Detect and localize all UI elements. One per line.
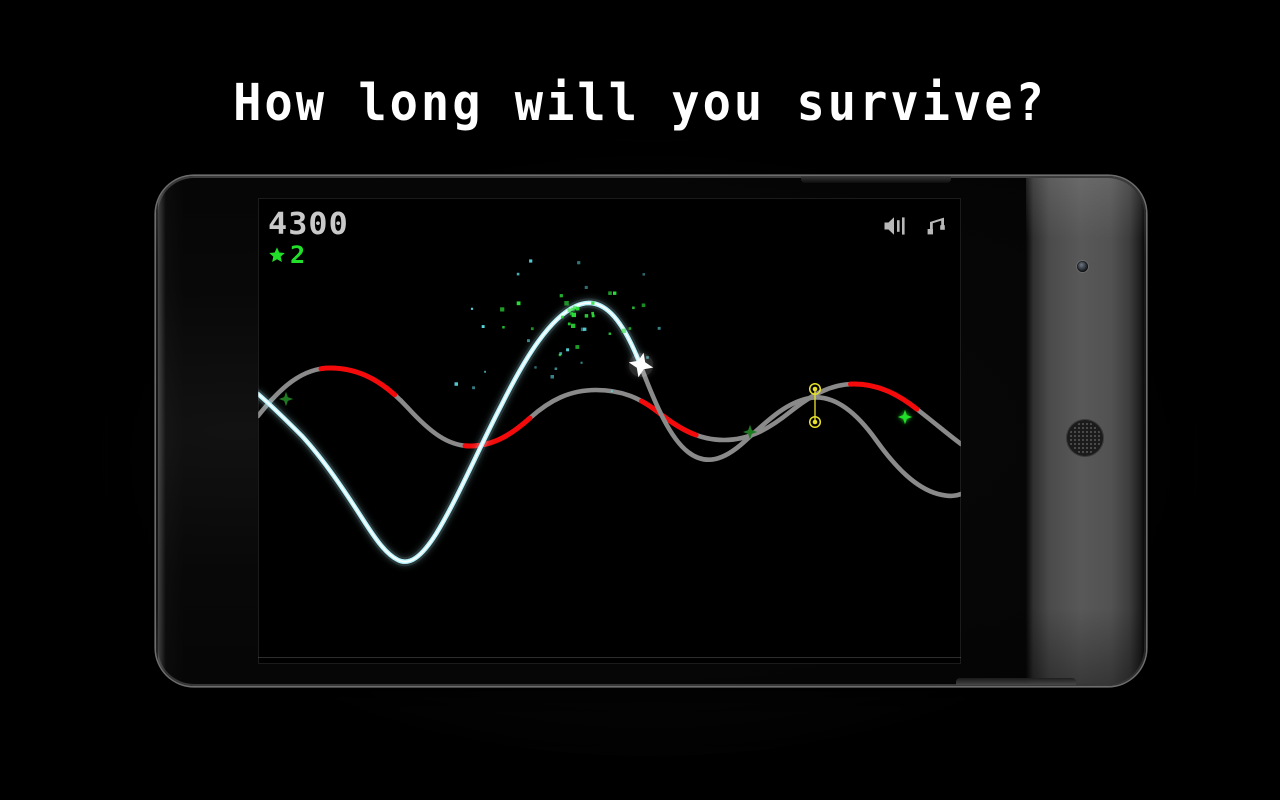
burst-particle-green <box>608 291 612 295</box>
burst-particle-green <box>500 307 504 311</box>
hud-score-group: 4300 2 <box>268 210 344 267</box>
hazard-segment <box>258 368 961 446</box>
sound-icon[interactable] <box>883 214 909 238</box>
burst-particle-green <box>575 345 579 349</box>
screen-bottom-edge <box>258 657 961 658</box>
burst-particle-green <box>576 307 580 311</box>
burst-particle-green <box>560 294 563 297</box>
game-playfield <box>258 198 961 664</box>
burst-particle-green <box>591 312 594 315</box>
track-primary <box>258 368 961 446</box>
music-icon[interactable] <box>925 214 949 238</box>
earpiece-speaker-grille <box>1066 419 1104 457</box>
gate-core <box>813 420 818 425</box>
gate-core <box>813 387 818 392</box>
burst-particle-cyan <box>484 371 486 373</box>
collectible-star <box>279 392 293 406</box>
player-trail-layer <box>258 303 961 562</box>
score-value: 4300 <box>268 210 349 240</box>
burst-particle-green <box>517 301 521 305</box>
burst-particle-cyan <box>527 339 530 342</box>
burst-particle-green <box>591 301 594 304</box>
tagline-text: How long will you survive? <box>0 74 1280 133</box>
burst-particle-cyan <box>471 308 473 310</box>
hazard-segment <box>258 368 961 446</box>
burst-particle-cyan <box>551 375 555 379</box>
burst-particle-green <box>609 333 612 336</box>
burst-particle-green <box>564 301 569 306</box>
burst-particle-cyan <box>555 368 558 371</box>
star-layer <box>279 392 961 474</box>
burst-particle-green <box>531 327 534 330</box>
device-top-edge-sliver <box>801 176 951 183</box>
screenshot-canvas: How long will you survive? <box>0 0 1280 800</box>
burst-particle-cyan <box>517 273 520 276</box>
burst-particle-green <box>561 316 564 319</box>
device-bottom-edge-sliver <box>956 678 1076 685</box>
hazard-segment <box>258 368 961 446</box>
player-trail <box>258 303 961 562</box>
burst-particle-cyan <box>455 382 459 386</box>
hazard-segment <box>258 368 961 446</box>
burst-particle-green <box>632 307 635 310</box>
burst-particle-green <box>502 326 505 329</box>
smartphone-device: 4300 2 <box>156 176 1146 686</box>
burst-particle-cyan <box>559 352 562 355</box>
burst-particle-green <box>568 323 571 326</box>
star-icon <box>268 246 286 264</box>
burst-particle-cyan <box>581 328 585 332</box>
burst-particle-green <box>629 327 632 330</box>
burst-particle-cyan <box>566 348 569 351</box>
collectible-star <box>898 410 912 424</box>
burst-particle-cyan <box>529 259 532 262</box>
burst-particle-cyan <box>658 327 661 330</box>
burst-particle-green <box>642 304 646 308</box>
burst-particle-cyan <box>472 386 475 389</box>
burst-particle-green <box>585 314 589 318</box>
burst-particle-cyan <box>534 366 536 368</box>
burst-particle-green <box>613 292 616 295</box>
game-screen[interactable]: 4300 2 <box>258 198 961 664</box>
particle-burst-layer <box>455 259 661 392</box>
burst-particle-green <box>570 312 573 315</box>
burst-particle-cyan <box>643 273 646 276</box>
star-counter: 2 <box>268 243 344 267</box>
burst-particle-cyan <box>482 325 485 328</box>
burst-particle-green <box>592 314 595 317</box>
burst-particle-green <box>622 329 626 333</box>
burst-particle-cyan <box>585 286 588 289</box>
burst-particle-cyan <box>577 261 580 264</box>
burst-particle-green <box>571 324 575 328</box>
hud-icon-bar <box>883 214 949 238</box>
gate-layer <box>810 384 821 428</box>
burst-particle-cyan <box>611 390 613 392</box>
burst-particle-green <box>568 308 571 311</box>
device-figure: 4300 2 <box>156 176 1146 686</box>
front-camera-icon <box>1077 261 1088 272</box>
burst-particle-green <box>571 308 575 312</box>
burst-particle-cyan <box>581 362 583 364</box>
player-layer <box>626 350 656 380</box>
device-left-rim <box>158 178 184 684</box>
star-count-value: 2 <box>290 243 305 267</box>
